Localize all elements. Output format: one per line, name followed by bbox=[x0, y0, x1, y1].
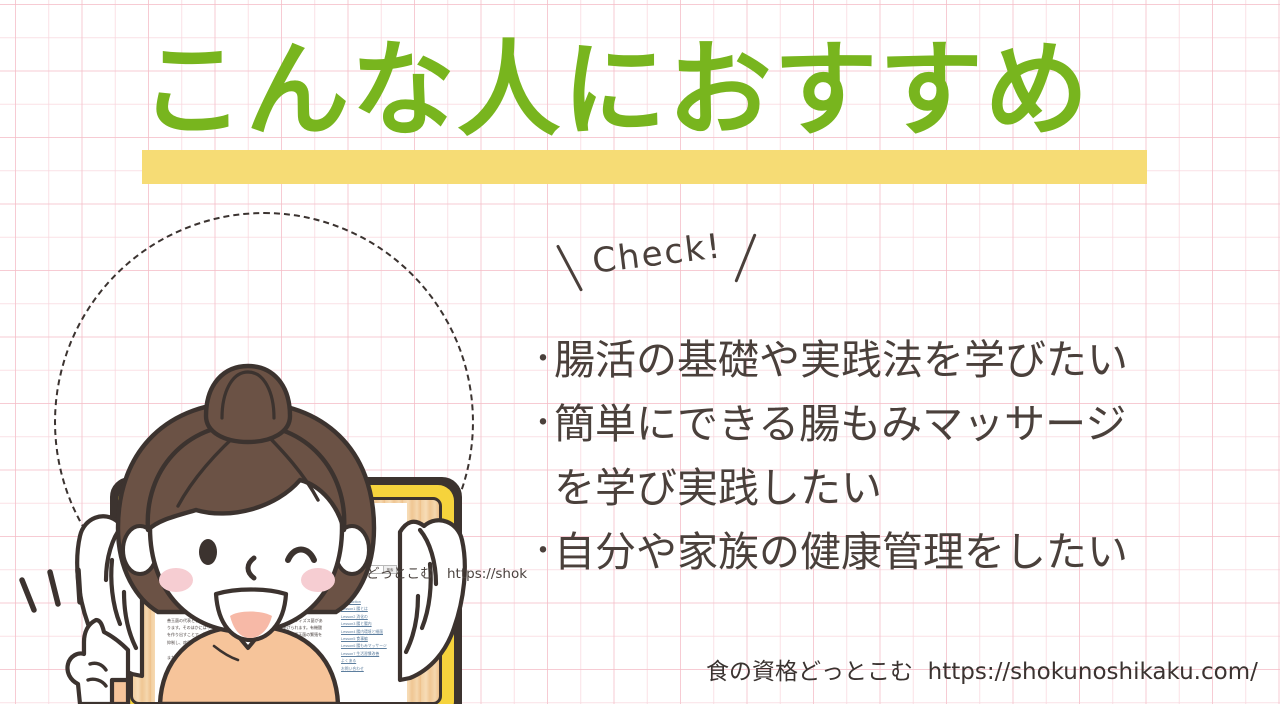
bullet-text: 簡単にできる腸もみマッサージ bbox=[554, 392, 1268, 456]
character-eye-left bbox=[199, 539, 217, 565]
check-label: Check! bbox=[590, 226, 724, 282]
footer-credit: 食の資格どっとこむ https://shokunoshikaku.com/ bbox=[706, 652, 1258, 686]
page-title: こんな人におすすめ bbox=[140, 30, 1150, 150]
footer-url: https://shokunoshikaku.com/ bbox=[928, 659, 1258, 685]
character-cheek-right bbox=[301, 568, 335, 592]
poster-canvas: こんな人におすすめ 腸育コンシェルジュ資格取得講座 腸内をスッキリ整えてぽっこり… bbox=[0, 0, 1280, 704]
bullet-text: を学び実践したい bbox=[554, 456, 1268, 520]
pointing-hand bbox=[67, 620, 128, 704]
list-item: ・ 自分や家族の健康管理をしたい bbox=[528, 520, 1268, 584]
list-item: ・ 簡単にできる腸もみマッサージ bbox=[528, 392, 1268, 456]
emphasis-strokes bbox=[22, 570, 80, 610]
title-block: こんな人におすすめ bbox=[0, 22, 1280, 172]
character-illustration bbox=[0, 180, 540, 704]
benefit-list: ・ 腸活の基礎や実践法を学びたい ・ 簡単にできる腸もみマッサージ を学び実践し… bbox=[528, 328, 1268, 584]
title-highlight-bar bbox=[142, 150, 1147, 184]
illustration-block: 腸育コンシェルジュ資格取得講座 腸内をスッキリ整えてぽっこりおなかを解消しましょ… bbox=[0, 180, 540, 704]
bullet-text: 自分や家族の健康管理をしたい bbox=[554, 520, 1268, 584]
bullet-text: 腸活の基礎や実践法を学びたい bbox=[554, 328, 1268, 392]
check-badge: Check! bbox=[548, 228, 768, 306]
bullet-marker: ・ bbox=[528, 520, 554, 584]
character-cheek-left bbox=[159, 568, 193, 592]
check-slash-right bbox=[734, 233, 756, 282]
bullet-marker: ・ bbox=[528, 328, 554, 392]
check-slash-left bbox=[556, 244, 583, 291]
footer-site-name: 食の資格どっとこむ bbox=[706, 659, 913, 685]
list-item: ・ 腸活の基礎や実践法を学びたい bbox=[528, 328, 1268, 392]
bullet-marker: ・ bbox=[528, 392, 554, 456]
list-item-continuation: を学び実践したい bbox=[528, 456, 1268, 520]
character-hair-bun bbox=[206, 366, 290, 442]
